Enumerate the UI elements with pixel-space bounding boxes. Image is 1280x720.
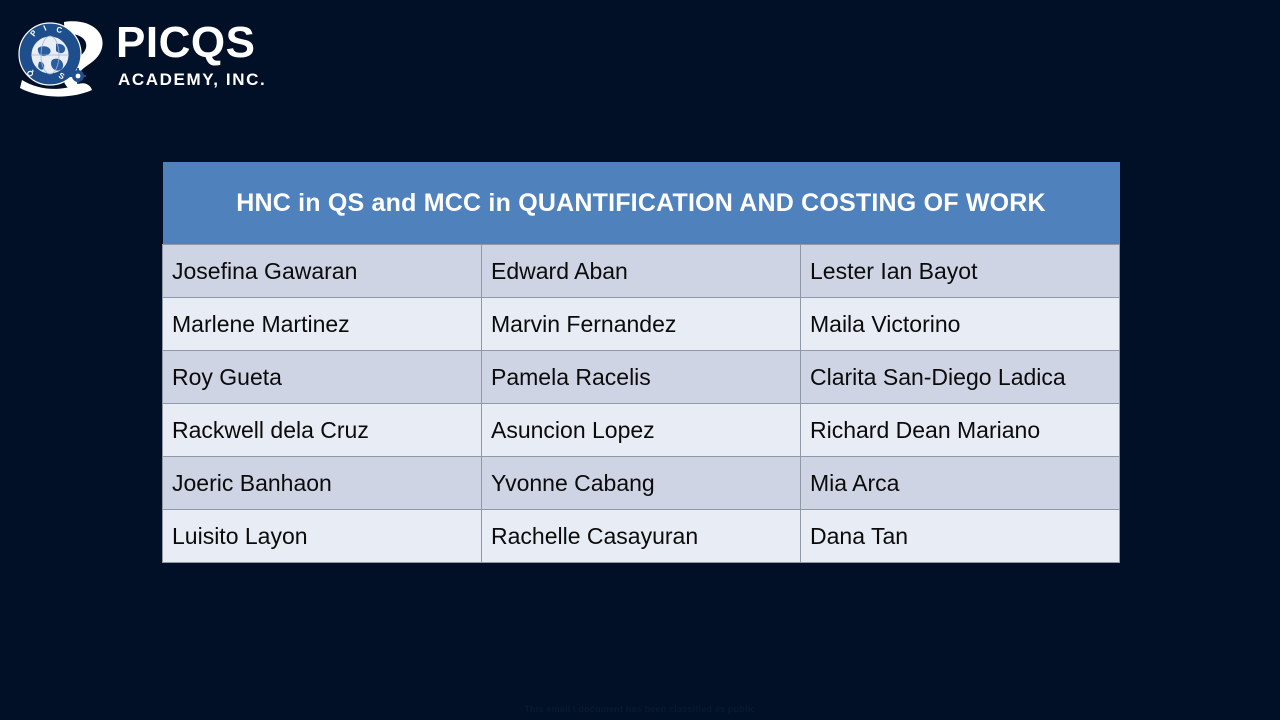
picqs-globe-icon: P I C Q S	[12, 14, 110, 98]
table-body: Josefina Gawaran Edward Aban Lester Ian …	[163, 245, 1120, 563]
table-header-row: HNC in QS and MCC in QUANTIFICATION AND …	[163, 162, 1120, 245]
cell-name: Marvin Fernandez	[482, 298, 801, 351]
brand-logo: P I C Q S PICQS ACADEMY, INC.	[12, 14, 266, 98]
cell-name: Luisito Layon	[163, 510, 482, 563]
cell-name: Pamela Racelis	[482, 351, 801, 404]
cell-name: Josefina Gawaran	[163, 245, 482, 298]
brand-name: PICQS	[116, 20, 255, 66]
cell-name: Dana Tan	[801, 510, 1120, 563]
cell-name: Lester Ian Bayot	[801, 245, 1120, 298]
brand-wordmark: PICQS ACADEMY, INC.	[116, 14, 266, 90]
cell-name: Mia Arca	[801, 457, 1120, 510]
cell-name: Rachelle Casayuran	[482, 510, 801, 563]
participant-roster-table: HNC in QS and MCC in QUANTIFICATION AND …	[162, 162, 1120, 563]
cell-name: Joeric Banhaon	[163, 457, 482, 510]
table-row: Joeric Banhaon Yvonne Cabang Mia Arca	[163, 457, 1120, 510]
cell-name: Maila Victorino	[801, 298, 1120, 351]
cell-name: Yvonne Cabang	[482, 457, 801, 510]
brand-subtitle: ACADEMY, INC.	[118, 70, 266, 90]
table-row: Roy Gueta Pamela Racelis Clarita San-Die…	[163, 351, 1120, 404]
table-row: Luisito Layon Rachelle Casayuran Dana Ta…	[163, 510, 1120, 563]
cell-name: Richard Dean Mariano	[801, 404, 1120, 457]
cell-name: Marlene Martinez	[163, 298, 482, 351]
table-row: Rackwell dela Cruz Asuncion Lopez Richar…	[163, 404, 1120, 457]
cell-name: Edward Aban	[482, 245, 801, 298]
cell-name: Roy Gueta	[163, 351, 482, 404]
table-row: Josefina Gawaran Edward Aban Lester Ian …	[163, 245, 1120, 298]
table-row: Marlene Martinez Marvin Fernandez Maila …	[163, 298, 1120, 351]
cell-name: Rackwell dela Cruz	[163, 404, 482, 457]
classification-notice: This email \ document has been classifie…	[0, 704, 1280, 714]
cell-name: Asuncion Lopez	[482, 404, 801, 457]
table-title: HNC in QS and MCC in QUANTIFICATION AND …	[163, 162, 1120, 245]
cell-name: Clarita San-Diego Ladica	[801, 351, 1120, 404]
